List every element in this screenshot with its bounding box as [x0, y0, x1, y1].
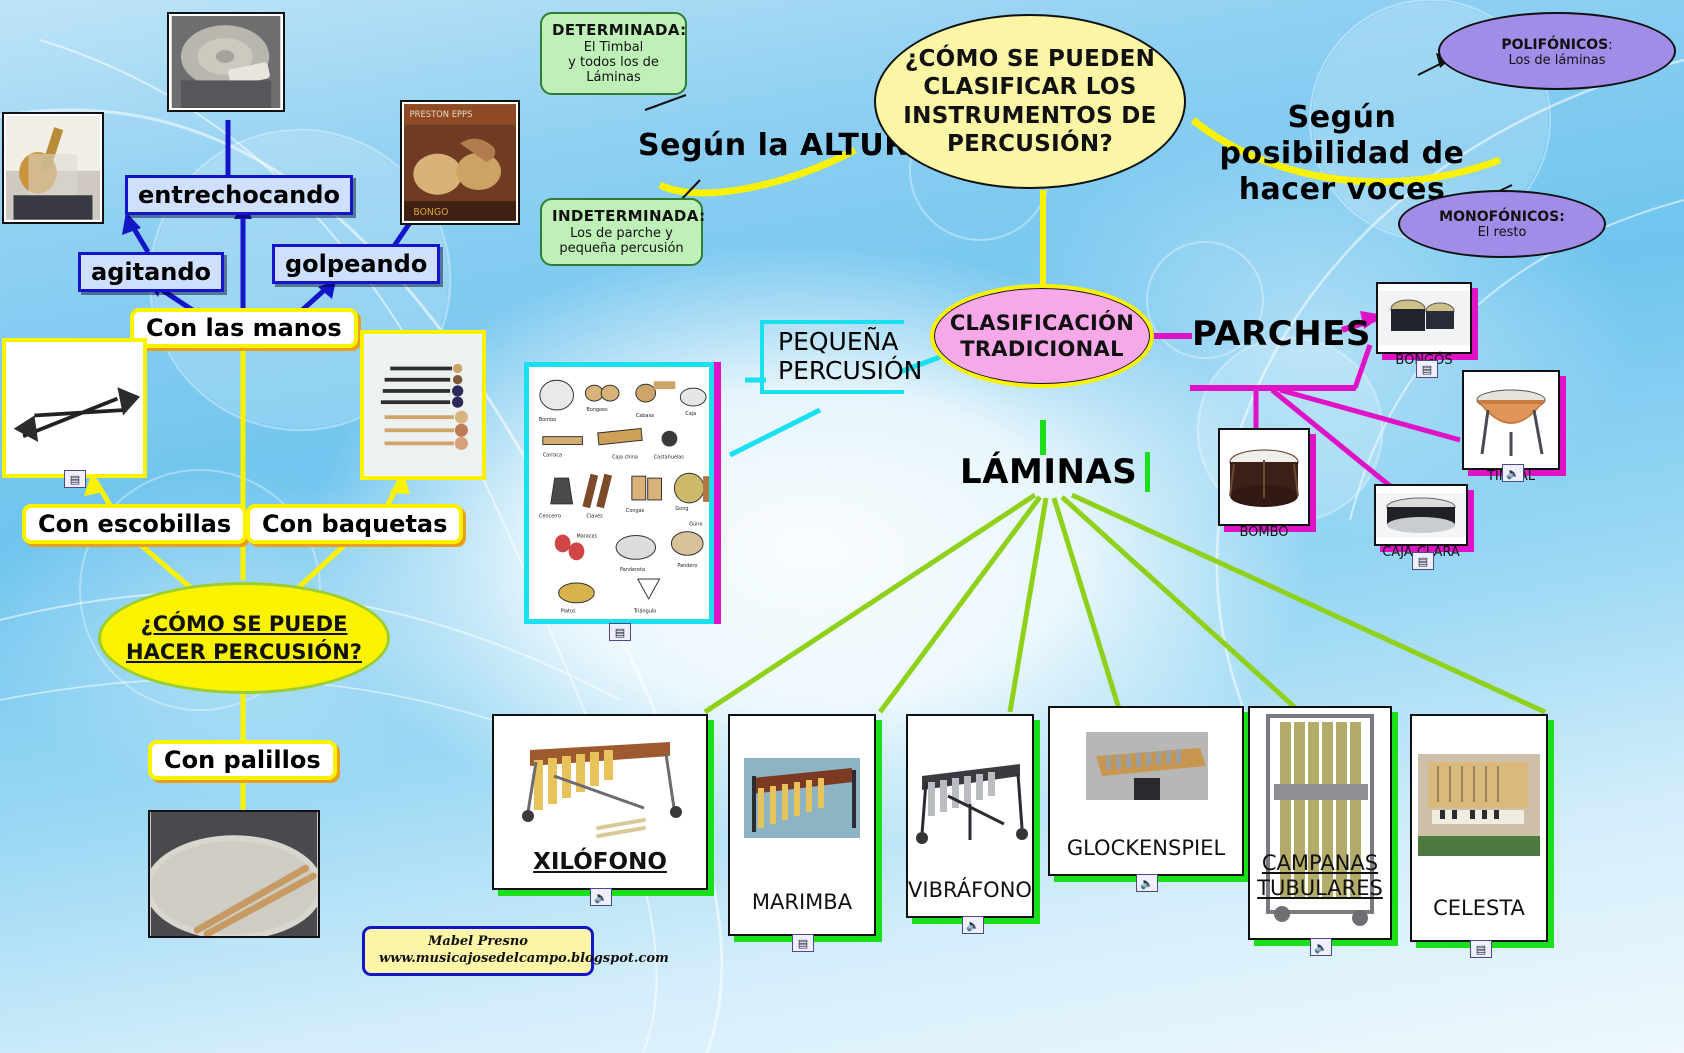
mallets-photo — [364, 334, 482, 476]
svg-text:Maracas: Maracas — [576, 534, 597, 540]
sound-icon[interactable]: 🔈 — [962, 916, 984, 934]
image-entrechocando-cymbals[interactable] — [167, 12, 285, 112]
altura-indeterminada-title: INDETERMINADA: — [552, 207, 691, 225]
celesta-photo — [1412, 716, 1546, 882]
method-con-las-manos[interactable]: Con las manos — [130, 308, 358, 348]
cymbals-photo — [171, 16, 281, 108]
svg-text:PRESTON EPPS: PRESTON EPPS — [410, 109, 473, 119]
sound-icon[interactable]: 🔈 — [1310, 938, 1332, 956]
branch-label-parches: PARCHES — [1192, 314, 1371, 354]
sound-icon[interactable]: 🔈 — [1502, 464, 1524, 482]
svg-text:Bongoes: Bongoes — [586, 407, 608, 413]
doc-icon[interactable]: ▤ — [609, 623, 631, 641]
altura-indeterminada-box: INDETERMINADA: Los de parche y pequeña p… — [540, 198, 703, 266]
card-label-campanas-tubulares: CAMPANAS TUBULARES — [1250, 850, 1390, 904]
bongo-record-cover: PRESTON EPPS BONGO — [404, 104, 516, 221]
credit-site: www.musicajosedelcampo.blogspot.com — [379, 951, 577, 968]
card-bongos[interactable]: BONGÓS ▤ — [1376, 282, 1472, 354]
hand-mode-entrechocando[interactable]: entrechocando — [125, 175, 353, 215]
altura-determinada-box: DETERMINADA: El Timbal y todos los de Lá… — [540, 12, 687, 95]
timbal-photo — [1464, 372, 1558, 468]
bombo-photo — [1220, 430, 1308, 524]
maraca-photo — [6, 116, 100, 220]
svg-text:Bombo: Bombo — [539, 417, 556, 423]
svg-text:Platos: Platos — [561, 609, 576, 615]
main-question-ellipse: ¿CÓMO SE PUEDEN CLASIFICAR LOS INSTRUMEN… — [874, 14, 1186, 189]
how-question-ellipse: ¿CÓMO SE PUEDE HACER PERCUSIÓN? — [98, 582, 390, 694]
method-con-escobillas[interactable]: Con escobillas — [22, 504, 247, 544]
doc-icon[interactable]: ▤ — [64, 470, 86, 488]
monofonicos-detail: El resto — [1478, 225, 1527, 240]
polifonicos-detail: Los de láminas — [1508, 53, 1605, 68]
svg-text:Congas: Congas — [626, 508, 645, 514]
caja-clara-photo — [1376, 486, 1466, 544]
svg-text:Pandereta: Pandereta — [620, 567, 645, 573]
method-con-baquetas[interactable]: Con baquetas — [246, 504, 463, 544]
card-label-bombo: BOMBO — [1220, 524, 1308, 543]
branch-label-laminas: LÁMINAS — [960, 452, 1150, 492]
svg-text:Triángulo: Triángulo — [633, 608, 657, 615]
svg-text:Cencerro: Cencerro — [539, 514, 561, 520]
image-escobillas[interactable]: ▤ — [2, 338, 147, 478]
card-bombo[interactable]: BOMBO — [1218, 428, 1310, 526]
card-celesta[interactable]: CELESTA ▤ — [1410, 714, 1548, 942]
svg-text:Carraca: Carraca — [543, 452, 562, 458]
altura-determinada-detail: El Timbal y todos los de Láminas — [552, 41, 675, 86]
card-vibrafono[interactable]: VIBRÁFONO 🔈 — [906, 714, 1034, 918]
image-baquetas[interactable] — [360, 330, 486, 480]
branch-label-pequena-percusion: PEQUEÑA PERCUSIÓN — [760, 320, 904, 394]
altura-determinada-title: DETERMINADA: — [552, 21, 675, 39]
svg-text:BONGO: BONGO — [413, 207, 448, 218]
svg-text:Caja: Caja — [685, 411, 696, 417]
card-label-xilofono: XILÓFONO — [494, 848, 706, 878]
glockenspiel-photo — [1050, 708, 1242, 830]
xilofono-photo — [494, 716, 706, 848]
image-agitando-maraca[interactable] — [2, 112, 104, 224]
voces-monofonicos-ellipse: MONOFÓNICOS: El resto — [1398, 190, 1606, 258]
voces-polifonicos-ellipse: POLIFÓNICOS: Los de láminas — [1438, 12, 1676, 90]
drumsticks-photo — [150, 812, 318, 936]
card-campanas-tubulares[interactable]: CAMPANAS TUBULARES 🔈 — [1248, 706, 1392, 940]
doc-icon[interactable]: ▤ — [1470, 940, 1492, 958]
monofonicos-title: MONOFÓNICOS: — [1439, 209, 1565, 225]
svg-text:Claves: Claves — [586, 514, 603, 520]
card-label-glockenspiel: GLOCKENSPIEL — [1050, 830, 1242, 863]
hand-mode-golpeando[interactable]: golpeando — [272, 244, 440, 284]
svg-text:Pandero: Pandero — [677, 563, 697, 569]
method-con-palillos[interactable]: Con palillos — [148, 740, 337, 780]
credit-author: Mabel Presno — [379, 934, 577, 951]
card-xilofono[interactable]: XILÓFONO 🔈 — [492, 714, 708, 890]
image-pequena-percusion-chart[interactable]: Bombo Bongoes Cabasa Caja Carraca Caja c… — [524, 362, 714, 624]
vibrafono-photo — [908, 716, 1032, 868]
card-label-vibrafono: VIBRÁFONO — [908, 868, 1032, 905]
branch-label-voces: Según posibilidad de hacer voces — [1206, 100, 1478, 208]
marimba-photo — [730, 716, 874, 876]
svg-text:Caja china: Caja china — [612, 454, 638, 460]
doc-icon[interactable]: ▤ — [1416, 360, 1438, 378]
clasificacion-tradicional-ellipse: CLASIFICACIÓN TRADICIONAL — [930, 284, 1154, 388]
hand-mode-agitando[interactable]: agitando — [78, 252, 224, 292]
svg-text:Cabasa: Cabasa — [636, 413, 654, 419]
sound-icon[interactable]: 🔈 — [1136, 874, 1158, 892]
card-label-marimba: MARIMBA — [730, 876, 874, 917]
svg-text:Güiro: Güiro — [689, 522, 702, 528]
small-percussion-collage: Bombo Bongoes Cabasa Caja Carraca Caja c… — [529, 367, 709, 619]
sound-icon[interactable]: 🔈 — [590, 888, 612, 906]
svg-text:Gong: Gong — [675, 506, 688, 512]
image-golpeando-bongos[interactable]: PRESTON EPPS BONGO — [400, 100, 520, 225]
card-marimba[interactable]: MARIMBA ▤ — [728, 714, 876, 936]
altura-indeterminada-detail: Los de parche y pequeña percusión — [552, 227, 691, 257]
polifonicos-title: POLIFÓNICOS — [1501, 37, 1608, 53]
card-glockenspiel[interactable]: GLOCKENSPIEL 🔈 — [1048, 706, 1244, 876]
svg-text:Castañuelas: Castañuelas — [654, 454, 685, 460]
brushes-photo — [6, 342, 143, 474]
polifonicos-line: POLIFÓNICOS: — [1501, 34, 1612, 53]
polifonicos-sep: : — [1608, 38, 1612, 53]
card-caja-clara[interactable]: CAJA CLARA ▤ — [1374, 484, 1468, 546]
doc-icon[interactable]: ▤ — [1412, 552, 1434, 570]
doc-icon[interactable]: ▤ — [792, 934, 814, 952]
bongos-photo — [1378, 284, 1470, 352]
image-palillos-drum[interactable] — [148, 810, 320, 938]
card-timbal[interactable]: TIMBAL 🔈 — [1462, 370, 1560, 470]
campanas-tubulares-photo — [1250, 708, 1390, 942]
card-label-celesta: CELESTA — [1412, 882, 1546, 923]
credit-box[interactable]: Mabel Presno www.musicajosedelcampo.blog… — [362, 926, 594, 976]
